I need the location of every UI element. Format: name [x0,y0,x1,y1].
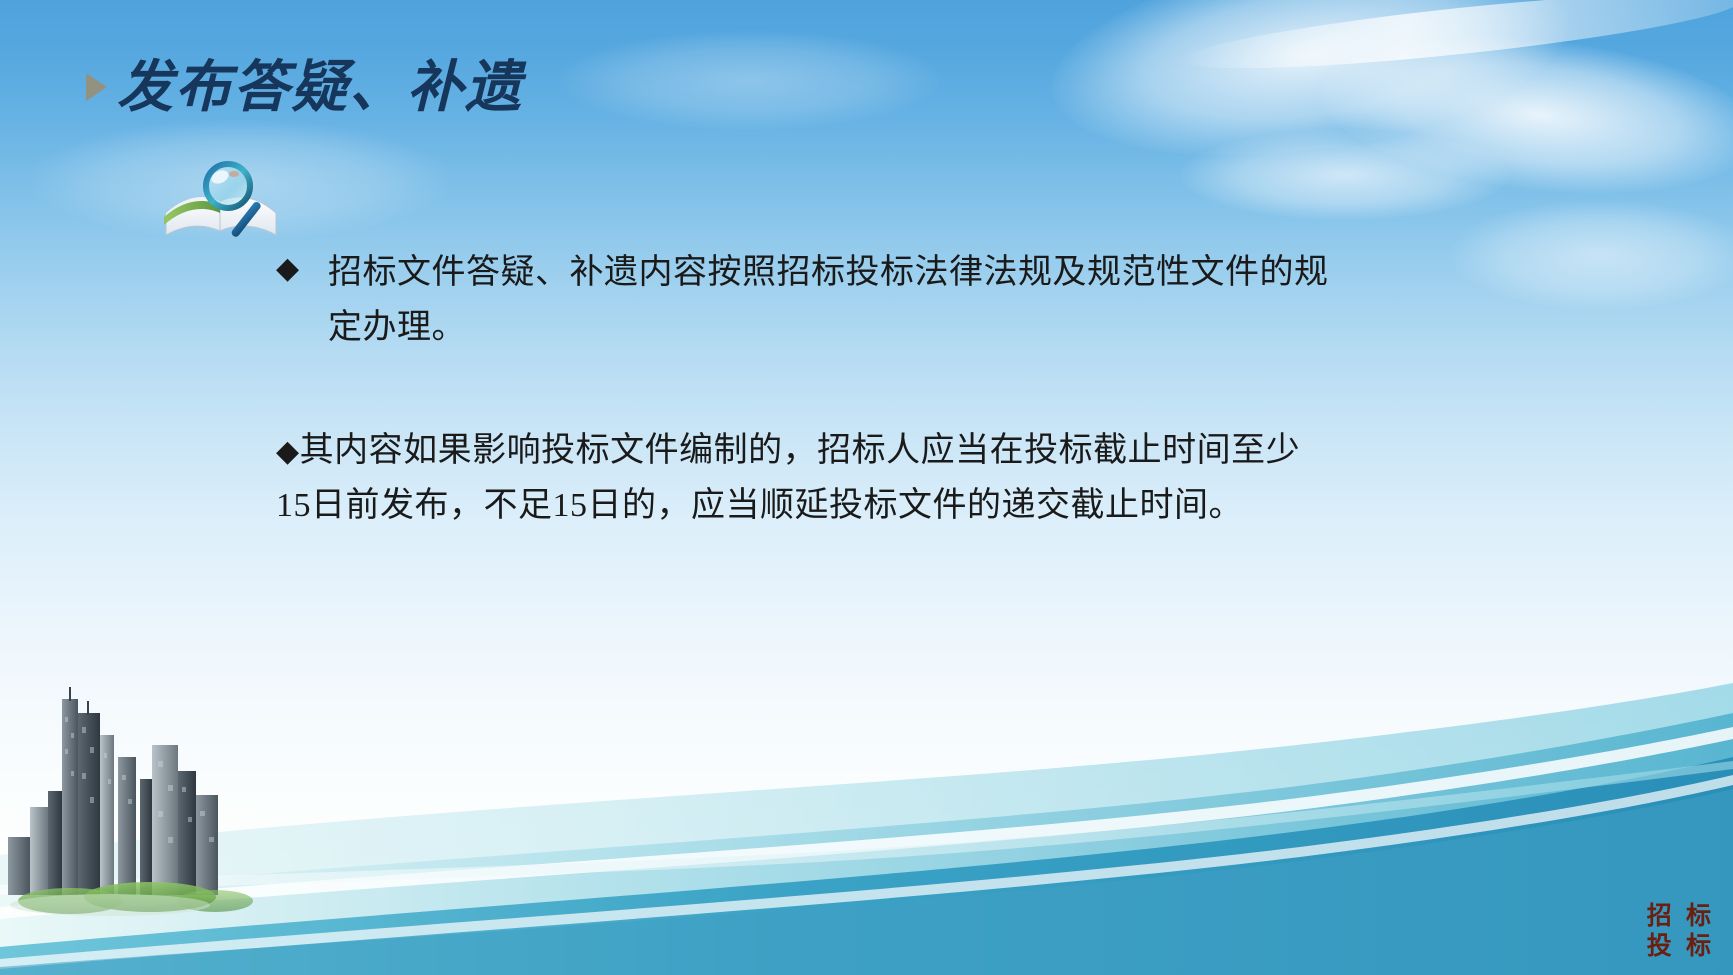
corner-logo: 招 标 投 标 [1647,902,1715,961]
diamond-bullet-icon: ◆ [276,245,300,294]
page-title: 发布答疑、补遗 [117,58,523,120]
book-magnifier-icon [160,155,284,240]
bullet-text: 其内容如果影响投标文件编制的，招标人应当在投标截止时间至少15日前发布，不足15… [276,432,1300,524]
bullet-item: ◆其内容如果影响投标文件编制的，招标人应当在投标截止时间至少15日前发布，不足1… [276,423,1311,533]
corner-logo-line-2: 投 标 [1647,932,1715,962]
corner-logo-line-1: 招 标 [1647,902,1715,932]
presentation-slide: 发布答疑、补遗 [0,0,1733,975]
bullet-text: 招标文件答疑、补遗内容按照招标投标法律法规及规范性文件的规定办理。 [328,254,1329,346]
triangle-right-icon [86,73,107,101]
diamond-bullet-icon: ◆ [276,435,300,468]
slide-title-row: 发布答疑、补遗 [86,58,523,120]
bullet-item: ◆ 招标文件答疑、补遗内容按照招标投标法律法规及规范性文件的规定办理。 [276,245,1336,355]
slide-body: ◆ 招标文件答疑、补遗内容按照招标投标法律法规及规范性文件的规定办理。 ◆其内容… [276,245,1336,533]
city-buildings-decoration [0,687,300,917]
